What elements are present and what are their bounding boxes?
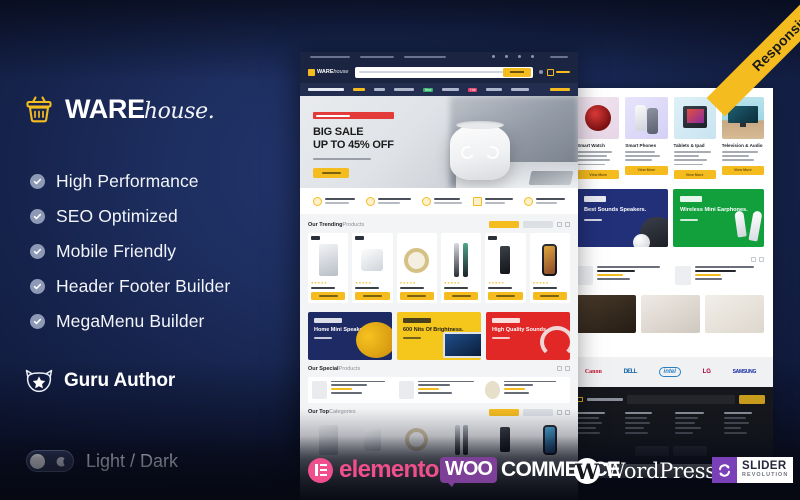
product-rating (488, 282, 522, 285)
add-to-cart-button[interactable] (355, 292, 389, 300)
service-item (524, 197, 565, 206)
blog-card[interactable] (641, 295, 700, 340)
basket-icon (308, 69, 315, 76)
speaker-eye-right (484, 144, 501, 161)
site-header: WAREhouse (300, 61, 578, 83)
category-card[interactable]: Smart Phones View More (625, 97, 667, 179)
product-price (444, 287, 468, 289)
search-button[interactable] (503, 68, 531, 77)
website-mockup-primary[interactable]: WAREhouse New Hot (300, 52, 578, 500)
product-thumb (312, 381, 327, 399)
nav-item-categories[interactable] (394, 88, 414, 91)
list-item[interactable] (577, 266, 667, 285)
banner-artwork (443, 332, 481, 358)
view-more-button[interactable]: View More (625, 166, 667, 175)
shopping-basket-icon (22, 92, 56, 126)
carousel-prev-icon[interactable] (557, 222, 562, 227)
product-card[interactable] (397, 233, 437, 303)
cart-widget[interactable] (547, 69, 570, 76)
footer-columns (576, 412, 765, 437)
blog-meta (641, 336, 700, 340)
banner-artwork (540, 326, 570, 358)
slider-revolution-icon (712, 457, 737, 483)
hero-tag (313, 112, 394, 119)
banner-tag (403, 318, 431, 323)
hero-laptop (529, 171, 574, 185)
nav-badge-new: New (423, 88, 433, 92)
category-card[interactable]: Smart Watch View More (577, 97, 619, 179)
carousel-next-icon[interactable] (565, 410, 570, 415)
view-more-label: View More (638, 168, 656, 172)
check-circle-icon (30, 314, 45, 329)
banner-artwork (356, 322, 392, 358)
list-item[interactable] (399, 381, 480, 399)
service-item (422, 197, 462, 206)
blog-card[interactable] (577, 295, 636, 340)
hero-text-block: BIG SALE UP TO 45% OFF (313, 112, 394, 178)
site-main-nav[interactable]: New Hot (300, 83, 578, 96)
feature-label: Mobile Friendly (56, 241, 176, 262)
promo-banner-brightness[interactable]: 600 Nits Of Brightness. (397, 312, 481, 360)
brand-logo-dell: DELL (624, 369, 637, 375)
promo-banner-earphones[interactable]: Wireless Mini Earphones. (673, 189, 764, 247)
topbar-email[interactable] (404, 56, 446, 58)
view-more-label: View More (589, 173, 607, 177)
nav-item-elements[interactable] (511, 88, 529, 91)
shield-icon (524, 197, 533, 206)
product-list-row (577, 257, 764, 285)
promo-banner-row: Home Mini Speakers. 600 Nits Of Brightne… (300, 307, 578, 360)
banner-tag (680, 196, 702, 202)
cart-label (556, 71, 570, 73)
banner-title: Wireless Mini Earphones. (680, 207, 757, 214)
add-to-cart-button[interactable] (488, 292, 522, 300)
footer-column (576, 412, 617, 437)
section-title: Our SpecialProducts (308, 366, 360, 372)
category-links[interactable] (674, 151, 716, 165)
add-to-cart-button[interactable] (400, 292, 434, 300)
banner-price (403, 337, 421, 339)
youtube-icon[interactable] (531, 55, 534, 58)
cat-star-icon (24, 368, 54, 394)
technology-logo-band: elementor WOO COMMERCE W WordPress SLIDE… (0, 436, 800, 500)
blog-image (705, 295, 764, 333)
blog-meta (577, 336, 636, 340)
slider-revolution-label-bottom: REVOLUTION (742, 472, 788, 479)
tab-watches[interactable] (523, 409, 553, 416)
promo-banner-row: Best Sounds Speakers. Wireless Mini Earp… (577, 189, 764, 247)
feature-item-mobile-friendly: Mobile Friendly (30, 234, 230, 269)
carousel-prev-icon[interactable] (557, 410, 562, 415)
site-logo-text: WAREhouse (317, 69, 349, 75)
service-item (473, 197, 513, 206)
wordpress-logo-label: WordPress (604, 459, 716, 483)
banner-tag (584, 196, 606, 202)
blog-image (577, 295, 636, 333)
site-logo[interactable]: WAREhouse (308, 69, 349, 76)
add-to-cart-button[interactable] (311, 292, 345, 300)
blog-card[interactable] (705, 295, 764, 340)
nav-item-product[interactable] (442, 88, 459, 91)
promo-banner-high-quality-sounds[interactable]: High Quality Sounds. (486, 312, 570, 360)
brand-logo-intel: intel (659, 367, 681, 377)
topbar-hours (310, 56, 350, 58)
wordpress-mark: W (575, 461, 599, 482)
product-price (488, 287, 512, 289)
responsive-ribbon: Responsive (680, 0, 800, 120)
lock-icon (422, 197, 431, 206)
feature-item-high-performance: High Performance (30, 164, 230, 199)
list-item[interactable] (485, 381, 566, 399)
site-search-bar[interactable] (355, 67, 534, 78)
product-card[interactable] (308, 233, 348, 303)
hero-title: BIG SALE UP TO 45% OFF (313, 126, 394, 152)
category-image (625, 97, 667, 139)
service-item (366, 197, 411, 206)
product-image (355, 241, 389, 279)
twitter-icon[interactable] (505, 55, 508, 58)
brand-lockup: WARE house. (22, 92, 214, 126)
product-badge (311, 236, 320, 240)
carousel-next-icon[interactable] (759, 257, 764, 262)
product-thumb (675, 266, 691, 285)
banner-price (492, 337, 510, 339)
category-title: Smart Watch (577, 143, 619, 148)
nav-item-vendors[interactable] (486, 88, 502, 91)
product-price (311, 287, 335, 289)
service-features-strip (300, 188, 578, 214)
list-item[interactable] (675, 266, 765, 285)
wordpress-icon: W (574, 458, 600, 484)
feature-label: MegaMenu Builder (56, 311, 205, 332)
feature-list: High Performance SEO Optimized Mobile Fr… (30, 164, 230, 339)
tag-icon (473, 197, 482, 206)
carousel-prev-icon[interactable] (557, 366, 562, 371)
slider-revolution-label-top: SLIDER (742, 461, 788, 472)
product-image (400, 241, 434, 279)
promo-banner-speakers[interactable]: Best Sounds Speakers. (577, 189, 668, 247)
category-title: Tablets & Ipad (674, 143, 716, 148)
shop-by-categories-button[interactable] (308, 88, 344, 91)
product-price (533, 287, 557, 289)
product-thumb (577, 266, 593, 285)
footer-column (675, 412, 716, 437)
view-more-button[interactable]: View More (722, 166, 764, 175)
product-card[interactable] (352, 233, 392, 303)
category-title: Television & Audio (722, 143, 764, 148)
product-rating (311, 282, 345, 285)
left-info-panel: WARE house. High Performance SEO Optimiz… (0, 0, 300, 500)
section-title: Our TopCategories (308, 409, 356, 415)
banner-tag (492, 318, 520, 323)
category-links[interactable] (722, 151, 764, 161)
product-image (444, 241, 478, 279)
slider-revolution-logo: SLIDER REVOLUTION (712, 457, 793, 483)
hero-subtitle (313, 158, 371, 160)
view-more-label: View More (734, 168, 752, 172)
newsletter-label (587, 398, 623, 400)
category-links[interactable] (625, 151, 667, 161)
cart-icon (547, 69, 554, 76)
brand-logo-canon: Canon (585, 369, 602, 375)
ribbon-label: Responsive (749, 6, 800, 74)
wordpress-logo: W WordPress (574, 458, 716, 484)
nav-badge-hot: Hot (468, 88, 477, 92)
product-rating (400, 282, 434, 285)
category-title: Smart Phones (625, 143, 667, 148)
product-card[interactable] (485, 233, 525, 303)
facebook-icon[interactable] (492, 55, 495, 58)
special-products-section: Our SpecialProducts (300, 360, 578, 403)
banner-price (584, 219, 602, 221)
banner-price (314, 337, 332, 339)
tab-smartphone[interactable] (489, 409, 519, 416)
banner-price (680, 219, 698, 221)
category-links[interactable] (577, 151, 619, 165)
service-item (313, 197, 355, 206)
elementor-logo: elementor (308, 456, 447, 484)
view-more-button[interactable]: View More (674, 170, 716, 179)
product-card[interactable] (441, 233, 481, 303)
feature-label: High Performance (56, 171, 199, 192)
hero-product-speaker (450, 124, 510, 180)
tab-new-products[interactable] (489, 221, 519, 228)
blog-image (641, 295, 700, 333)
product-image (533, 241, 567, 279)
trending-products-section: Our TrendingProducts (300, 214, 578, 307)
elementor-icon (308, 458, 333, 483)
check-circle-icon (30, 209, 45, 224)
brand-name-script: house. (144, 101, 215, 123)
product-badge (488, 236, 497, 240)
banner-title: Best Sounds Speakers. (584, 207, 661, 214)
view-more-button[interactable]: View More (577, 170, 619, 179)
feature-label: Header Footer Builder (56, 276, 230, 297)
hero-shop-now-button[interactable] (313, 168, 349, 178)
woocommerce-icon: WOO (440, 457, 497, 483)
topbar-phone[interactable] (360, 56, 394, 58)
promo-banner-page: WARE house. High Performance SEO Optimiz… (0, 0, 800, 500)
truck-icon (313, 197, 322, 206)
add-to-cart-button[interactable] (533, 292, 567, 300)
footer-column (724, 412, 765, 437)
newsletter-row (576, 395, 765, 404)
check-circle-icon (30, 279, 45, 294)
carousel-prev-icon[interactable] (751, 257, 756, 262)
website-mockup-secondary[interactable]: Smart Watch View More Smart Phones View … (568, 88, 773, 478)
product-rating (444, 282, 478, 285)
wishlist-icon[interactable] (539, 70, 543, 74)
promo-banner-home-mini-speakers[interactable]: Home Mini Speakers. (308, 312, 392, 360)
guru-author-badge: Guru Author (24, 368, 175, 394)
brand-logo-lg: LG (703, 369, 711, 375)
check-circle-icon (30, 174, 45, 189)
product-thumb (399, 381, 414, 399)
product-card-row (308, 233, 570, 303)
footer-column (625, 412, 666, 437)
woo-mark: WOO (445, 458, 492, 480)
search-input[interactable] (359, 71, 504, 73)
hero-slider[interactable]: BIG SALE UP TO 45% OFF (300, 96, 578, 188)
newsletter-input[interactable] (627, 395, 735, 404)
product-price (400, 287, 424, 289)
brand-logo-strip: Canon DELL intel LG SAMSUNG (568, 357, 773, 387)
topbar-login[interactable] (550, 56, 568, 58)
brand-name-bold: WARE (65, 96, 145, 123)
add-to-cart-button[interactable] (444, 292, 478, 300)
product-rating (355, 282, 389, 285)
instagram-icon[interactable] (518, 55, 521, 58)
list-item[interactable] (312, 381, 393, 399)
view-more-label: View More (686, 173, 704, 177)
feature-label: SEO Optimized (56, 206, 178, 227)
tab-featured-products[interactable] (523, 221, 553, 228)
nav-item-home[interactable] (353, 88, 365, 91)
newsletter-subscribe-button[interactable] (739, 395, 765, 404)
blog-meta (705, 336, 764, 340)
feature-item-seo-optimized: SEO Optimized (30, 199, 230, 234)
nav-item-shop[interactable] (374, 88, 385, 91)
check-circle-icon (30, 244, 45, 259)
headset-icon (366, 197, 375, 206)
product-image (488, 241, 522, 279)
product-card[interactable] (530, 233, 570, 303)
site-topbar (300, 52, 578, 61)
feature-item-header-footer-builder: Header Footer Builder (30, 269, 230, 304)
carousel-next-icon[interactable] (565, 222, 570, 227)
speaker-eye-left (459, 144, 476, 161)
section-title: Our TrendingProducts (308, 222, 364, 228)
nav-top-seller-link[interactable] (550, 88, 570, 91)
carousel-next-icon[interactable] (565, 366, 570, 371)
header-icons (539, 69, 570, 76)
banner-tag (314, 318, 342, 323)
category-image (577, 97, 619, 139)
product-rating (533, 282, 567, 285)
feature-item-megamenu-builder: MegaMenu Builder (30, 304, 230, 339)
blog-card-row (577, 295, 764, 340)
product-badge (355, 236, 364, 240)
product-thumb (485, 381, 500, 399)
elementor-logo-label: elementor (339, 456, 447, 484)
guru-author-label: Guru Author (64, 370, 175, 392)
product-price (355, 287, 379, 289)
product-image (311, 241, 345, 279)
brand-logo-samsung: SAMSUNG (733, 369, 756, 375)
